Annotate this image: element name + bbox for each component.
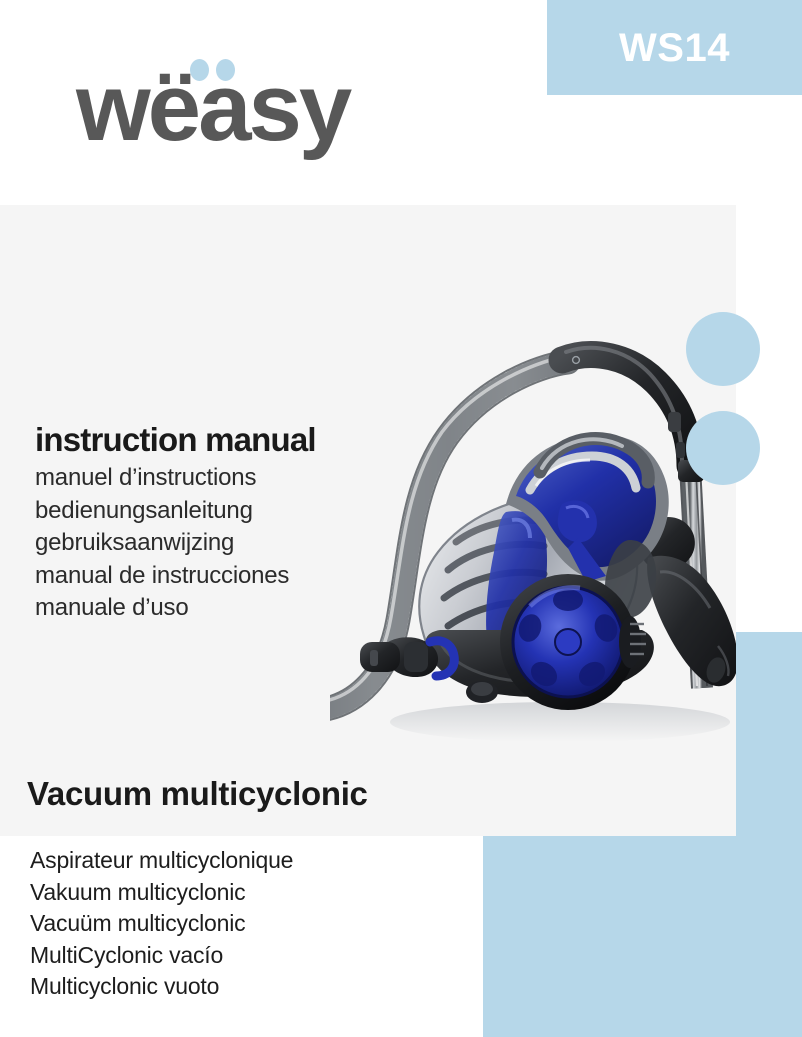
list-item: Aspirateur multicyclonique: [30, 845, 293, 877]
page-title: instruction manual: [35, 422, 316, 458]
decorative-circle-bottom: [686, 411, 760, 485]
manual-cover-page: wëasy WS14: [0, 0, 802, 1037]
brand-logo: wëasy: [40, 22, 380, 162]
list-item: manuale d’uso: [35, 592, 289, 625]
model-code-label: WS14: [619, 28, 730, 68]
manual-title-translations: manuel d’instructions bedienungsanleitun…: [35, 462, 289, 625]
list-item: manual de instrucciones: [35, 560, 289, 593]
brand-wordmark: wëasy: [76, 60, 349, 156]
umlaut-dot-left-icon: [190, 59, 209, 81]
product-name-title: Vacuum multicyclonic: [27, 775, 368, 813]
list-item: bedienungsanleitung: [35, 495, 289, 528]
list-item: manuel d’instructions: [35, 462, 289, 495]
model-badge: WS14: [547, 0, 802, 95]
decorative-circle-top: [686, 312, 760, 386]
decorative-blue-block: [483, 836, 802, 1037]
list-item: Vacuüm multicyclonic: [30, 908, 293, 940]
list-item: MultiCyclonic vacío: [30, 940, 293, 972]
list-item: Vakuum multicyclonic: [30, 877, 293, 909]
umlaut-dot-right-icon: [216, 59, 235, 81]
list-item: Multicyclonic vuoto: [30, 971, 293, 1003]
product-name-translations: Aspirateur multicyclonique Vakuum multic…: [30, 845, 293, 1003]
list-item: gebruiksaanwijzing: [35, 527, 289, 560]
